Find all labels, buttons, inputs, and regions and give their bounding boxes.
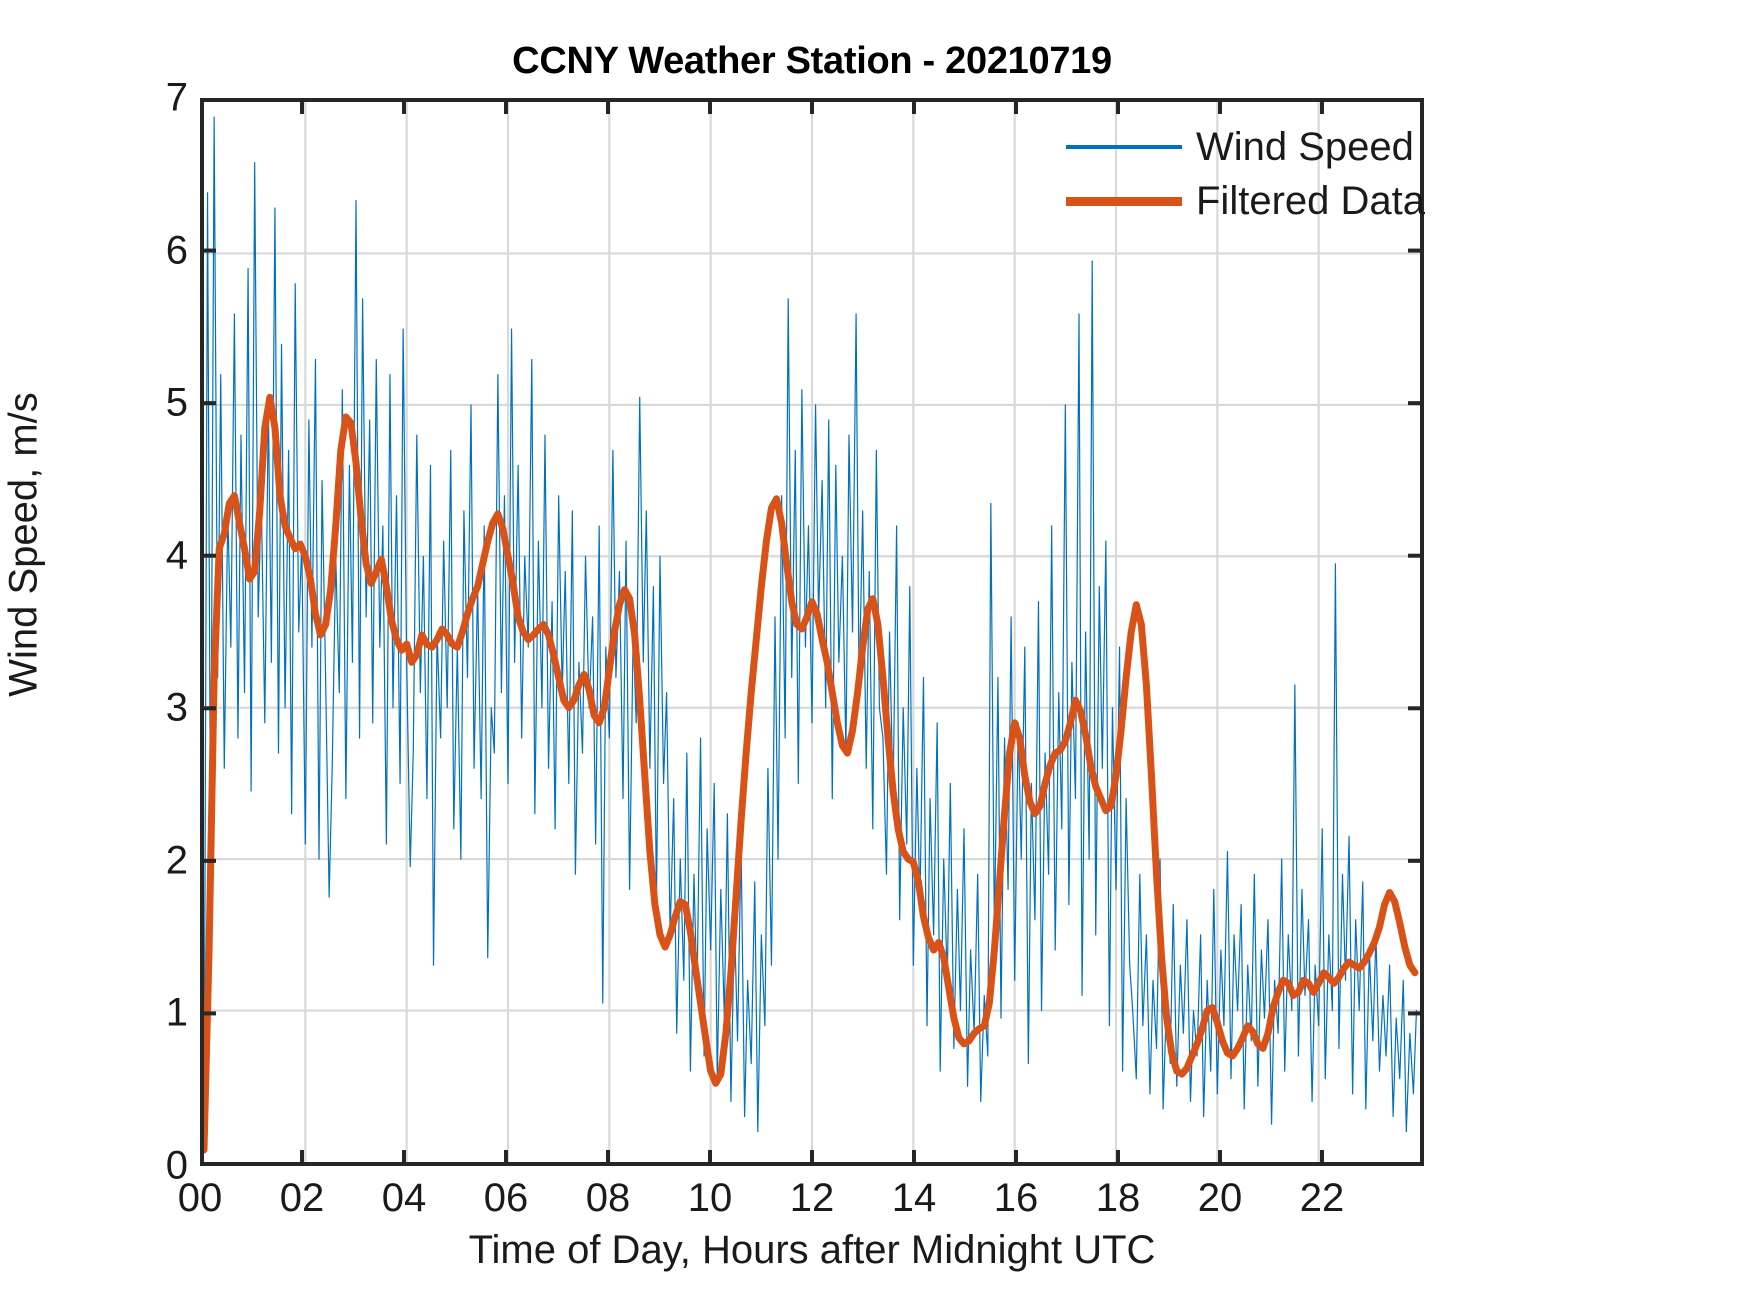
x-tick-label: 14 xyxy=(869,1176,959,1221)
x-tick-label: 02 xyxy=(257,1176,347,1221)
y-tick-label: 1 xyxy=(128,991,188,1036)
legend-swatch-2 xyxy=(1066,197,1182,206)
x-tick-label: 20 xyxy=(1175,1176,1265,1221)
x-tick-label: 16 xyxy=(971,1176,1061,1221)
x-tick-label: 22 xyxy=(1277,1176,1367,1221)
page-title: CCNY Weather Station - 20210719 xyxy=(200,40,1424,83)
y-tick-label: 2 xyxy=(128,838,188,883)
y-tick-label: 6 xyxy=(128,228,188,273)
x-tick-label: 06 xyxy=(461,1176,551,1221)
x-tick-label: 08 xyxy=(563,1176,653,1221)
x-tick-label: 18 xyxy=(1073,1176,1163,1221)
x-tick-label: 12 xyxy=(767,1176,857,1221)
plot-area xyxy=(200,98,1424,1166)
legend-label: Filtered Data xyxy=(1196,181,1425,221)
plot-inner xyxy=(204,102,1420,1162)
y-tick-label: 4 xyxy=(128,533,188,578)
plot-svg xyxy=(204,102,1420,1162)
figure-canvas: CCNY Weather Station - 20210719 01234567… xyxy=(0,0,1750,1313)
legend-item[interactable]: Filtered Data xyxy=(1066,174,1406,228)
x-tick-label: 10 xyxy=(665,1176,755,1221)
y-tick-label: 7 xyxy=(128,76,188,121)
legend-label: Wind Speed xyxy=(1196,127,1414,167)
series-layer xyxy=(204,117,1416,1150)
legend-swatch-1 xyxy=(1066,145,1182,149)
x-tick-label: 00 xyxy=(155,1176,245,1221)
chart-legend: Wind SpeedFiltered Data xyxy=(1066,116,1406,234)
series-line-1 xyxy=(204,117,1416,1147)
y-axis-label: Wind Speed, m/s xyxy=(2,11,47,1079)
y-tick-label: 5 xyxy=(128,381,188,426)
legend-item[interactable]: Wind Speed xyxy=(1066,120,1406,174)
x-axis-label: Time of Day, Hours after Midnight UTC xyxy=(200,1228,1424,1273)
y-tick-label: 3 xyxy=(128,686,188,731)
x-tick-label: 04 xyxy=(359,1176,449,1221)
